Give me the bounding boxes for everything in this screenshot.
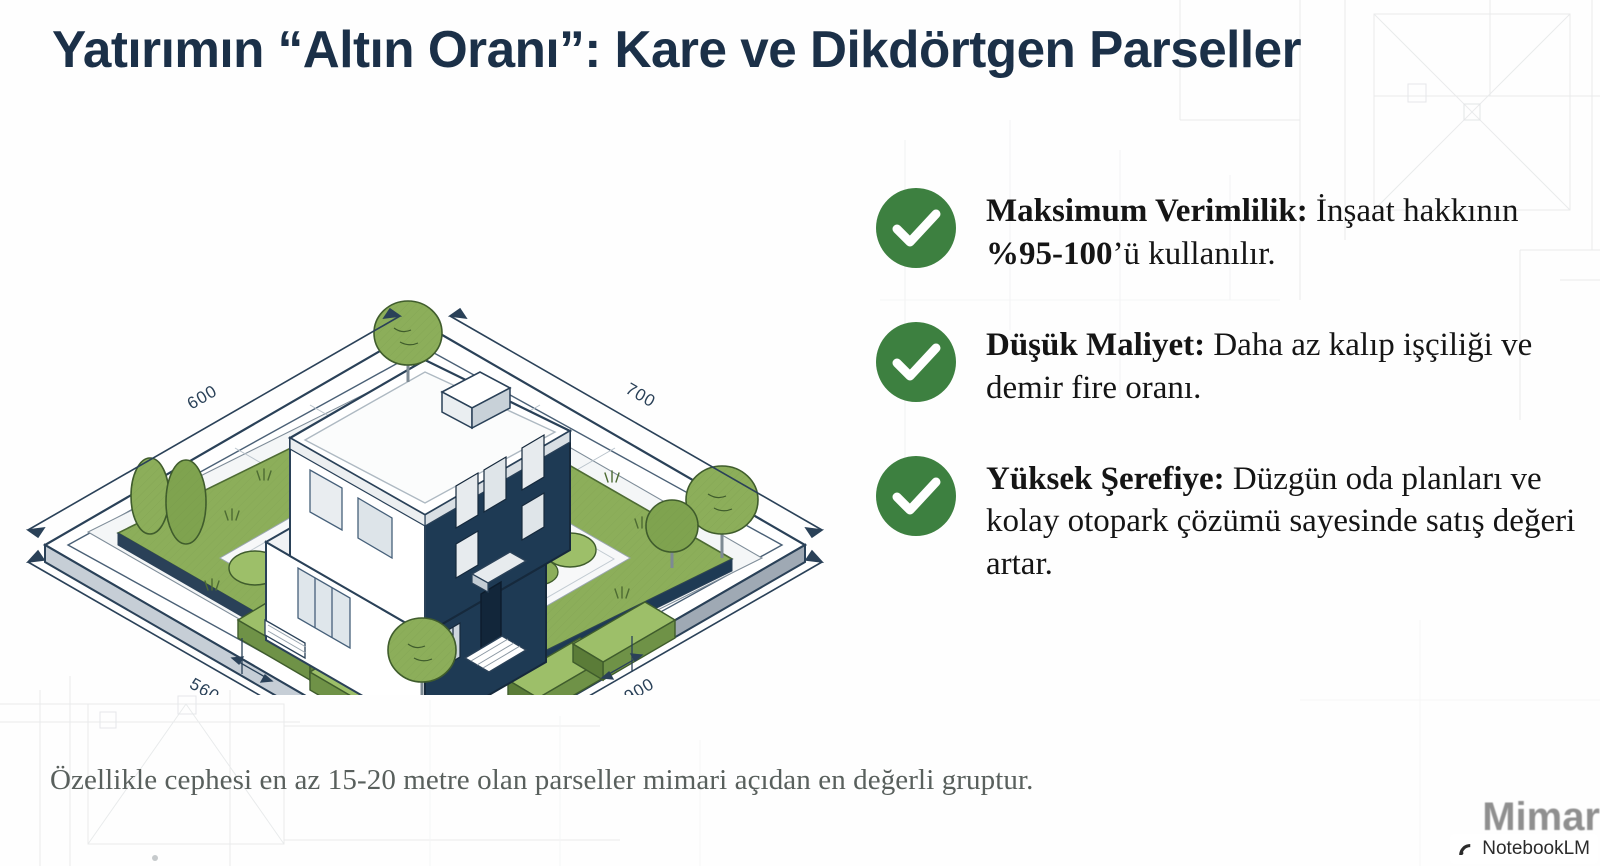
check-circle-icon xyxy=(876,456,956,536)
slide-canvas: Yatırımın “Altın Oranı”: Kare ve Dikdört… xyxy=(0,0,1600,866)
check-circle-icon xyxy=(876,188,956,268)
list-item-lead: Düşük Maliyet: xyxy=(986,327,1205,363)
notebooklm-label: NotebookLM xyxy=(1482,838,1590,860)
check-circle-icon xyxy=(876,322,956,402)
notebooklm-icon xyxy=(1456,840,1475,859)
dimension-label-700: 700 xyxy=(622,379,659,411)
list-item-text: Maksimum Verimlilik: İnşaat hakkının %95… xyxy=(986,186,1576,276)
dimension-label-560: 560 xyxy=(186,674,223,695)
list-item-body-before: İnşaat hakkının xyxy=(1308,193,1519,229)
list-item-lead: Yüksek Şerefiye: xyxy=(986,461,1225,497)
list-item-text: Yüksek Şerefiye: Düzgün oda planları ve … xyxy=(986,454,1576,587)
list-item-emphasis: %95-100 xyxy=(986,236,1113,272)
list-item-lead: Maksimum Verimlilik: xyxy=(986,193,1308,229)
list-item-text: Düşük Maliyet: Daha az kalıp işçiliği ve… xyxy=(986,320,1576,410)
dimension-label-600: 600 xyxy=(184,381,221,413)
list-item-body-after: ’ü kullanılır. xyxy=(1113,236,1276,272)
notebooklm-badge: NotebookLM xyxy=(1450,834,1598,864)
benefits-list: Maksimum Verimlilik: İnşaat hakkının %95… xyxy=(876,186,1576,586)
dimension-label-900: 900 xyxy=(621,674,658,695)
isometric-plot-diagram: 600 700 560 900 xyxy=(10,150,840,695)
page-title: Yatırımın “Altın Oranı”: Kare ve Dikdört… xyxy=(52,20,1530,80)
list-item: Düşük Maliyet: Daha az kalıp işçiliği ve… xyxy=(876,320,1576,410)
list-item: Maksimum Verimlilik: İnşaat hakkının %95… xyxy=(876,186,1576,276)
list-item: Yüksek Şerefiye: Düzgün oda planları ve … xyxy=(876,454,1576,587)
footer-caption: Özellikle cephesi en az 15-20 metre olan… xyxy=(50,764,1034,797)
